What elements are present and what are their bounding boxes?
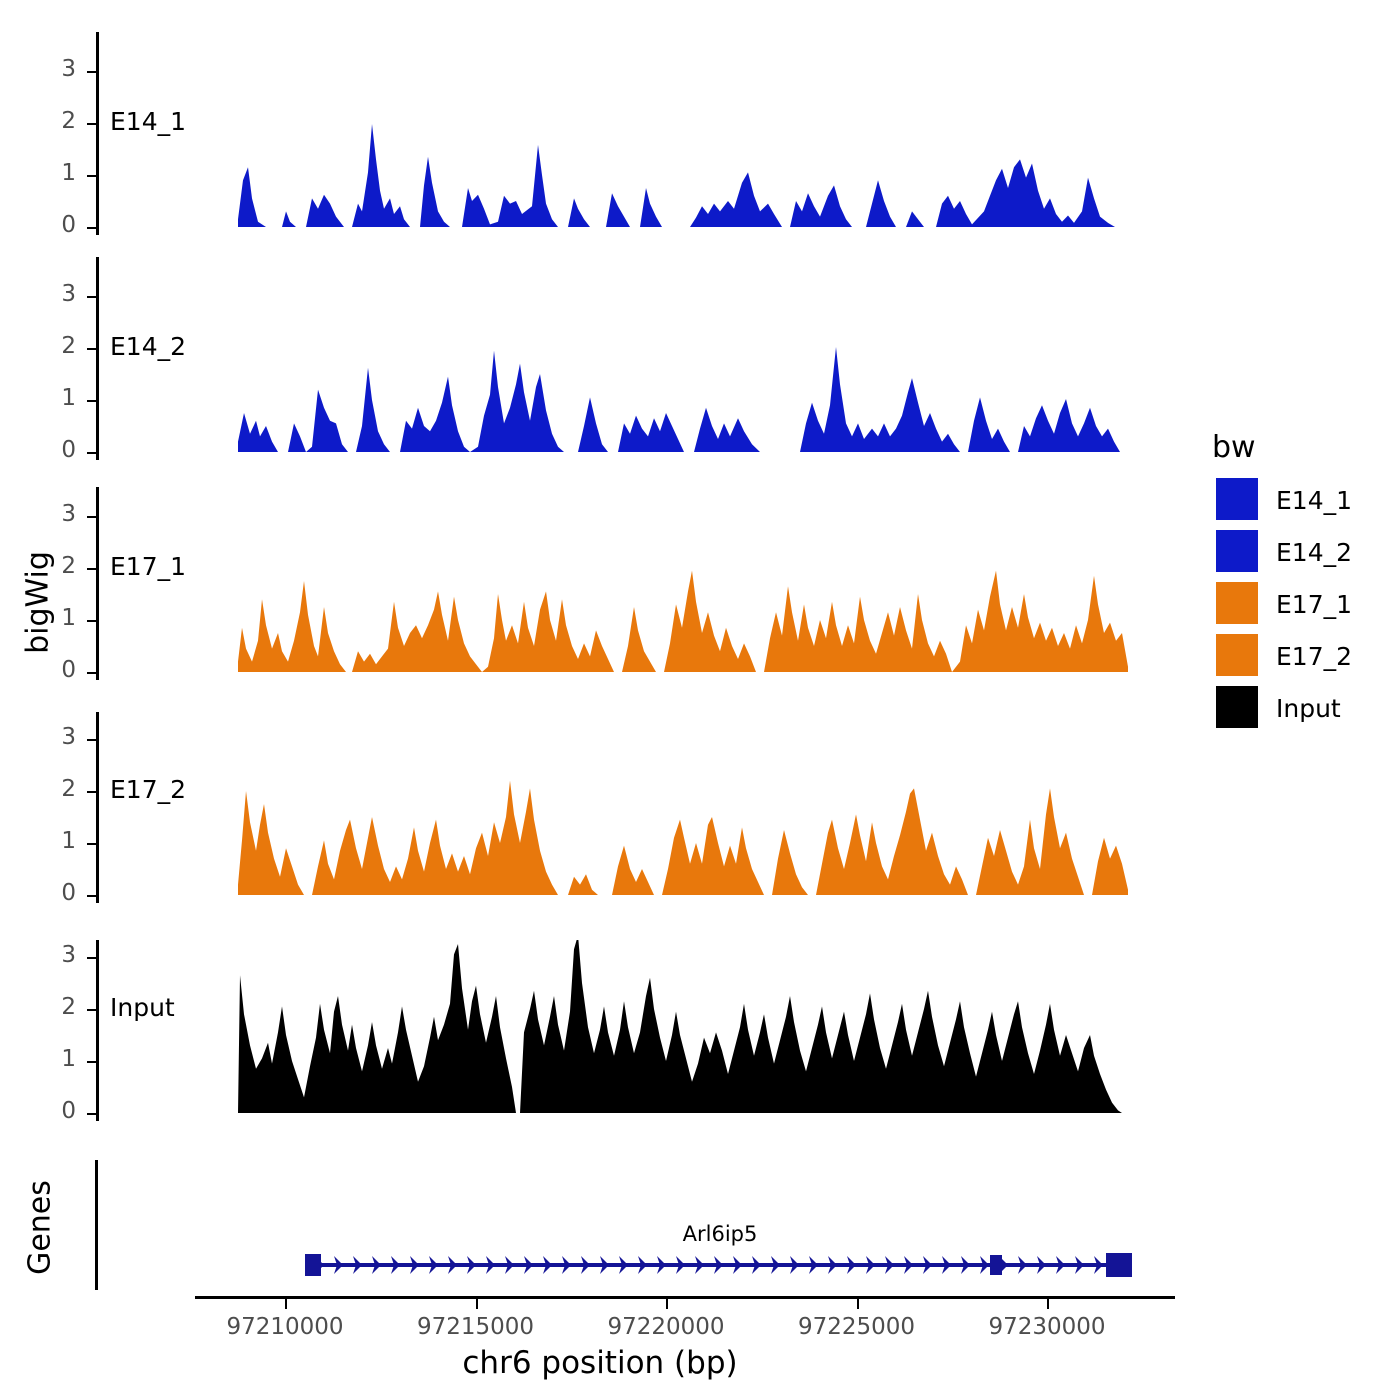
legend-key-e17_1[interactable] [1216, 582, 1258, 624]
signal-segment [936, 159, 1115, 227]
signal-area-e14_1 [0, 32, 1200, 249]
signal-segment [568, 198, 590, 227]
x-tick-label: 97225000 [777, 1314, 937, 1340]
signal-area-e14_2 [0, 257, 1200, 474]
signal-segment [420, 157, 450, 227]
x-tick-label: 97215000 [396, 1314, 556, 1340]
legend-label-e14_2: E14_2 [1276, 538, 1352, 567]
signal-segment [282, 211, 296, 227]
gene-exon-box [990, 1255, 1002, 1275]
x-axis-line [195, 1296, 1175, 1299]
x-tick [476, 1299, 478, 1309]
signal-segment [238, 781, 558, 895]
legend-key-input[interactable] [1216, 686, 1258, 728]
signal-segment [568, 874, 598, 895]
track-panel-e14_2: 3210E14_2 [0, 257, 1200, 474]
signal-segment [906, 211, 924, 227]
signal-segment [578, 397, 608, 452]
x-tick-label: 97220000 [586, 1314, 746, 1340]
signal-segment [612, 788, 1128, 895]
x-tick-label: 97230000 [967, 1314, 1127, 1340]
signal-segment [690, 172, 852, 227]
signal-segment [618, 413, 684, 452]
x-tick [666, 1299, 668, 1309]
track-panel-e17_2: 3210E17_2 [0, 712, 1200, 917]
legend-label-e14_1: E14_1 [1276, 486, 1352, 515]
signal-segment [694, 408, 760, 452]
signal-area-e17_2 [0, 712, 1200, 917]
x-tick [285, 1299, 287, 1309]
legend-title: bw [1212, 430, 1256, 465]
gene-exon-box [1106, 1253, 1132, 1277]
signal-segment [238, 571, 1128, 672]
x-tick [1047, 1299, 1049, 1309]
gene-exon-box [305, 1254, 321, 1276]
signal-segment [800, 347, 1120, 452]
x-tick [857, 1299, 859, 1309]
signal-area-e17_1 [0, 487, 1200, 694]
track-panel-input: 3210Input [0, 940, 1200, 1135]
signal-segment [866, 180, 896, 227]
x-axis-title: chr6 position (bp) [0, 1345, 1200, 1381]
legend: bw E14_1E14_2E17_1E17_2Input [1212, 430, 1397, 720]
legend-label-input: Input [1276, 694, 1341, 723]
gene-name-label: Arl6ip5 [620, 1222, 820, 1246]
track-panel-e14_1: 3210E14_1 [0, 32, 1200, 249]
legend-key-e14_1[interactable] [1216, 478, 1258, 520]
signal-segment [640, 188, 662, 227]
signal-segment [462, 145, 558, 227]
signal-segment [288, 368, 390, 452]
legend-label-e17_2: E17_2 [1276, 642, 1352, 671]
legend-key-e14_2[interactable] [1216, 530, 1258, 572]
signal-area-input [0, 940, 1200, 1135]
signal-segment [606, 193, 630, 227]
signal-segment [306, 124, 410, 227]
signal-segment [238, 940, 1122, 1113]
signal-segment [400, 351, 564, 452]
legend-key-e17_2[interactable] [1216, 634, 1258, 676]
gene-panel: Arl6ip5 [0, 1160, 1200, 1300]
x-tick-label: 97210000 [205, 1314, 365, 1340]
gene-glyph[interactable] [0, 1245, 1200, 1285]
signal-segment [238, 167, 266, 227]
signal-segment [238, 413, 278, 452]
track-panel-e17_1: 3210E17_1 [0, 487, 1200, 694]
legend-label-e17_1: E17_1 [1276, 590, 1352, 619]
